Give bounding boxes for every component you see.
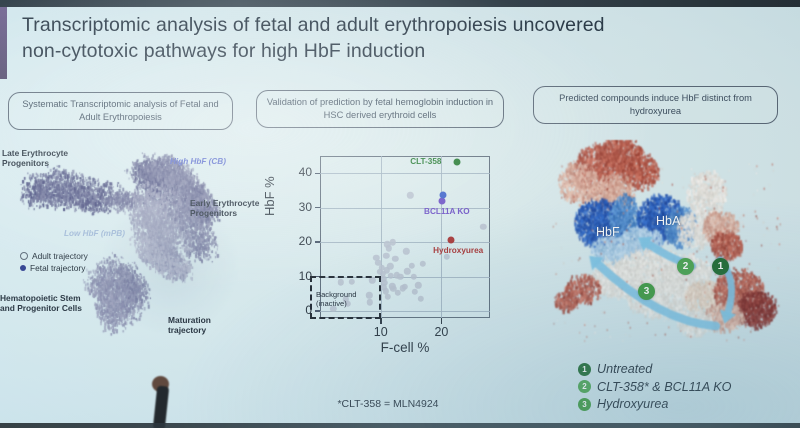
y-axis-tick-label: 10 bbox=[280, 270, 312, 282]
section-header-predicted-compounds: Predicted compounds induce HbF distinct … bbox=[533, 86, 778, 124]
x-axis-tick bbox=[441, 318, 443, 324]
y-axis-tick bbox=[315, 241, 320, 242]
slide-title: Transcriptomic analysis of fetal and adu… bbox=[22, 12, 742, 64]
umap-marker-1: 1 bbox=[712, 258, 729, 275]
scatter-point bbox=[448, 236, 455, 243]
scatter-annotation-hydroxyurea: Hydroxyurea bbox=[433, 246, 483, 255]
section-header-label: Validation of prediction by fetal hemogl… bbox=[265, 96, 495, 121]
umap-legend-label: Fetal trajectory bbox=[30, 263, 85, 273]
umap-label-high-hbf-cb: High HbF (CB) bbox=[170, 157, 226, 167]
section-header-label: Predicted compounds induce HbF distinct … bbox=[542, 92, 769, 117]
scatter-point bbox=[439, 198, 446, 205]
umap-marker-2: 2 bbox=[677, 258, 694, 275]
x-axis-label: F-cell % bbox=[320, 340, 490, 355]
filled-circle-icon bbox=[20, 265, 26, 271]
slide-footnote: *CLT-358 = MLN4924 bbox=[268, 398, 508, 410]
cluster-label-hbf: HbF bbox=[596, 225, 620, 239]
y-axis-tick bbox=[315, 173, 320, 174]
background-gate-label: Background (inactive) bbox=[316, 290, 357, 309]
screen-top-edge bbox=[0, 0, 800, 7]
umap-label-late-erythrocyte-progenitors: Late Erythrocyte Progenitors bbox=[2, 148, 92, 169]
umap-label-hematopoietic-stem-and-progenitor-cells: Hematopoietic Stem and Progenitor Cells bbox=[0, 293, 86, 314]
legend-item-label: Hydroxyurea bbox=[597, 397, 668, 411]
x-axis-tick-label: 10 bbox=[363, 326, 399, 339]
presentation-slide: Transcriptomic analysis of fetal and adu… bbox=[0, 0, 800, 428]
gridline-vertical bbox=[441, 156, 442, 318]
y-axis-tick-label: 0 bbox=[280, 304, 312, 316]
gridline-horizontal bbox=[320, 242, 490, 243]
umap-label-low-hbf-mpb: Low HbF (mPB) bbox=[64, 229, 125, 239]
legend-number-badge: 2 bbox=[578, 380, 591, 393]
umap-legend-label: Adult trajectory bbox=[32, 251, 88, 261]
cluster-label-hba: HbA bbox=[656, 214, 680, 228]
screen-bottom-edge bbox=[0, 423, 800, 428]
section-header-label: Systematic Transcriptomic analysis of Fe… bbox=[17, 98, 224, 123]
microphone-body-icon bbox=[153, 385, 170, 428]
legend-item-untreated: 1Untreated bbox=[578, 362, 798, 376]
background-gate-label-line1: Background bbox=[316, 290, 357, 299]
y-axis-label: HbF % bbox=[262, 176, 277, 216]
legend-item-clt-358-bcl11a-ko: 2CLT-358* & BCL11A KO bbox=[578, 380, 798, 394]
hbf-vs-fcell-scatter-chart: 0102030401020 Background (inactive) CLT-… bbox=[268, 150, 503, 365]
y-axis-tick-label: 40 bbox=[280, 166, 312, 178]
scatter-annotation-clt-358: CLT-358 bbox=[410, 157, 441, 166]
left-umap-panel: Late Erythrocyte Progenitors Early Eryth… bbox=[0, 145, 262, 360]
umap-legend-fetal-trajectory: Fetal trajectory bbox=[20, 263, 85, 273]
legend-item-label: CLT-358* & BCL11A KO bbox=[597, 380, 731, 394]
legend-item-hydroxyurea: 3Hydroxyurea bbox=[578, 397, 798, 411]
y-axis-tick-label: 30 bbox=[280, 201, 312, 213]
scatter-annotation-bcl11a-ko: BCL11A KO bbox=[424, 207, 470, 216]
umap-marker-3: 3 bbox=[638, 283, 655, 300]
umap-label-maturation-trajectory: Maturation trajectory bbox=[168, 315, 230, 336]
gridline-horizontal bbox=[320, 173, 490, 174]
title-accent-bar bbox=[0, 7, 7, 79]
scatter-point bbox=[440, 191, 447, 198]
trajectory-arrows bbox=[520, 140, 800, 355]
legend-number-badge: 1 bbox=[578, 363, 591, 376]
umap-label-early-erythrocyte-progenitors: Early Erythrocyte Progenitors bbox=[190, 198, 260, 219]
background-gate-label-line2: (inactive) bbox=[316, 299, 357, 308]
compound-legend: 1Untreated2CLT-358* & BCL11A KO3Hydroxyu… bbox=[578, 362, 798, 415]
x-axis-tick-label: 20 bbox=[423, 326, 459, 339]
open-circle-icon bbox=[20, 252, 28, 260]
section-header-validation: Validation of prediction by fetal hemogl… bbox=[256, 90, 504, 128]
title-line-2: non-cytotoxic pathways for high HbF indu… bbox=[22, 38, 742, 64]
y-axis-tick-label: 20 bbox=[280, 235, 312, 247]
microphone-silhouette bbox=[150, 376, 172, 428]
section-header-transcriptomic-analysis: Systematic Transcriptomic analysis of Fe… bbox=[8, 92, 233, 130]
y-axis-tick bbox=[315, 207, 320, 208]
right-umap-panel: HbFHbA 123 bbox=[520, 140, 800, 355]
gridline-vertical bbox=[381, 156, 382, 318]
title-line-1: Transcriptomic analysis of fetal and adu… bbox=[22, 14, 605, 36]
legend-number-badge: 3 bbox=[578, 398, 591, 411]
umap-legend-adult-trajectory: Adult trajectory bbox=[20, 251, 88, 261]
legend-item-label: Untreated bbox=[597, 362, 652, 376]
scatter-point bbox=[454, 159, 461, 166]
